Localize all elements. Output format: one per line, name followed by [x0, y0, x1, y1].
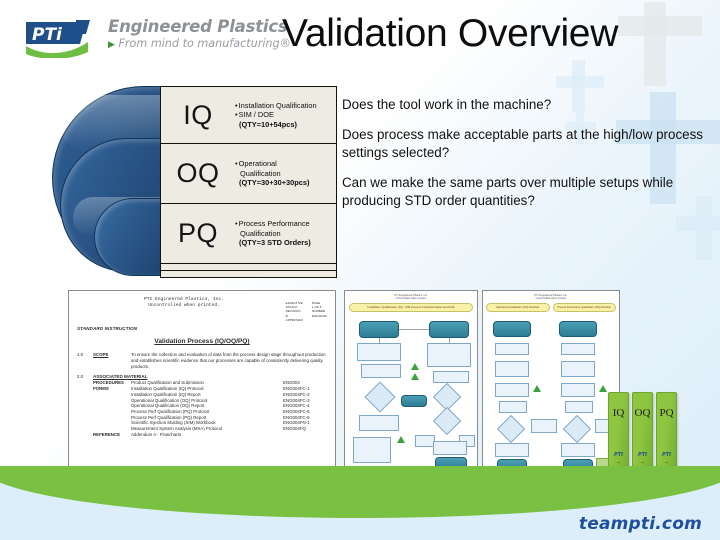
question-iq: Does the tool work in the machine?	[342, 96, 714, 113]
doc-uncontrolled: Uncontrolled when printed.	[109, 303, 259, 309]
doc-scope-row: 1.0 SCOPE To ensure the collection and e…	[77, 352, 327, 370]
footer-website: teampti.com	[579, 514, 702, 534]
doc-meta-revision-label: REVISION	[286, 309, 303, 313]
binder-dot-icon: •	[609, 398, 628, 402]
doc-scope-text: To ensure the collection and evaluation …	[131, 352, 327, 370]
stage-desc-oq: Operational Qualification (QTY=30+30+30p…	[235, 159, 336, 188]
flow-node-process	[561, 383, 595, 397]
flow-node-process	[561, 443, 595, 457]
binder-logo-oq: PTI	[633, 452, 652, 458]
binder-pq[interactable]: • PQ PTI ▬	[656, 392, 677, 468]
flow-node-process	[495, 361, 529, 377]
binder-code-oq: OQ	[633, 407, 652, 419]
flow-node-process	[357, 343, 401, 361]
stage-desc-pq: Process Performance Qualification (QTY=3…	[235, 219, 336, 248]
doc-meta-approved-label: APPROVED	[286, 318, 303, 322]
doc-assoc-label: ASSOCIATED MATERIAL	[93, 374, 327, 379]
svg-text:PTi: PTi	[32, 25, 63, 45]
doc-title: Validation Process (IQ/OQ/PQ)	[77, 338, 327, 345]
doc-meta-right: PAGE 1 OF 8 NUMBER ENG004IG	[312, 301, 327, 322]
doc-meta-left: EFFECTIVE 10/12/17 REVISION B APPROVED	[286, 301, 303, 322]
flow-node-decision	[563, 415, 591, 443]
pti-logo-mark: PTi	[24, 18, 100, 58]
binder-logo-pq: PTI	[657, 452, 676, 458]
document-thumbnails: PTI Engineered Plastics, Inc. Uncontroll…	[68, 290, 620, 478]
stage-bullet: Process Performance	[235, 219, 332, 229]
flow-node-start	[359, 321, 399, 338]
doc-meta-number-value: ENG004IG	[312, 314, 327, 318]
flow-node-warning-icon	[411, 373, 419, 380]
doc-item-name: Addendum A - Flowcharts	[131, 432, 283, 438]
binder-sub-iq: ▬	[609, 461, 628, 464]
doc-material-list: PROCEDURESProduct Qualification and Subm…	[93, 380, 327, 437]
doc-assoc-number: 2.0	[77, 374, 93, 380]
oq-flowchart-band: Operational Qualification (OQ) Flowchart	[486, 303, 550, 312]
binder-iq[interactable]: • IQ PTI ▬	[608, 392, 629, 468]
flow-node-process	[495, 343, 529, 355]
stage-box-oq: OQ Operational Qualification (QTY=30+30+…	[160, 144, 337, 204]
questions-list: Does the tool work in the machine? Does …	[342, 96, 714, 209]
footer-band: teampti.com	[0, 466, 720, 540]
stage-strip-2	[160, 271, 337, 278]
flow-connector	[399, 329, 429, 330]
slide-canvas: PTi Engineered Plastics ▶ From mind to m…	[0, 0, 720, 540]
oqpq-flowchart-canvas: PTI Engineered Plastics, Inc. Uncontroll…	[483, 291, 619, 475]
iq-flowchart-canvas: PTI Engineered Plastics, Inc. Uncontroll…	[345, 291, 477, 475]
flow-node-process	[361, 364, 401, 378]
flow-node-process	[415, 435, 435, 447]
page-title: Validation Overview	[282, 8, 682, 60]
stage-bullet-cont: Qualification	[235, 229, 332, 239]
thumbnail-oqpq-flowchart[interactable]: PTI Engineered Plastics, Inc. Uncontroll…	[482, 290, 620, 476]
binder-group: • IQ PTI ▬ • OQ PTI ▬ • PQ PTI ▬	[608, 392, 678, 468]
brand-line-1: Engineered Plastics	[108, 17, 260, 36]
question-pq: Can we make the same parts over multiple…	[342, 174, 714, 209]
binder-sub-pq: ▬	[657, 461, 676, 464]
flow-node-decision	[497, 415, 525, 443]
iq-flowchart-subheader: Uncontrolled when printed.	[345, 297, 477, 300]
doc-header-meta: EFFECTIVE 10/12/17 REVISION B APPROVED P…	[286, 301, 327, 322]
flow-node-legend	[353, 437, 391, 463]
brand-tagline: From mind to manufacturing	[118, 37, 279, 50]
flow-node-process	[427, 343, 471, 367]
flow-node-process	[433, 441, 467, 455]
flow-node-process	[359, 415, 399, 431]
flow-node-warning-icon	[533, 385, 541, 392]
pti-logo-wordmark: Engineered Plastics ▶ From mind to manuf…	[108, 17, 260, 52]
question-oq: Does process make acceptable parts at th…	[342, 126, 714, 161]
doc-scope-number: 1.0	[77, 352, 93, 370]
doc-item-code	[283, 432, 327, 438]
doc-header-center: PTI Engineered Plastics, Inc. Uncontroll…	[109, 297, 259, 309]
flow-node-start-pq	[559, 321, 597, 337]
brand-line-2: ▶ From mind to manufacturing®	[108, 37, 260, 52]
stage-box-column: IQ Installation Qualification SIM / DOE …	[160, 86, 337, 278]
stage-bullet: Installation Qualification	[235, 101, 332, 111]
oqpq-flowchart-header: PTI Engineered Plastics, Inc. Uncontroll…	[483, 291, 619, 301]
doc-header: PTI Engineered Plastics, Inc. Uncontroll…	[77, 297, 327, 322]
stage-qty-oq: (QTY=30+30+30pcs)	[235, 178, 332, 188]
stage-qty-iq: (QTY=10+54pcs)	[235, 120, 332, 130]
flow-node-warning-icon	[397, 436, 405, 443]
oqpq-flowchart-bands: Operational Qualification (OQ) Flowchart…	[486, 303, 616, 312]
flow-node-process	[561, 343, 595, 355]
flow-connector	[379, 338, 380, 343]
flow-node-decision	[364, 381, 395, 412]
validation-stages-diagram: IQ Installation Qualification SIM / DOE …	[52, 86, 337, 276]
thumbnail-iq-flowchart[interactable]: PTI Engineered Plastics, Inc. Uncontroll…	[344, 290, 478, 476]
pq-flowchart-band: Process Performance Qualification (PQ) F…	[553, 303, 617, 312]
flow-node-process	[433, 371, 469, 383]
iq-flowchart-header: PTI Engineered Plastics, Inc. Uncontroll…	[345, 291, 477, 301]
stage-qty-pq: (QTY=3 STD Orders)	[235, 238, 332, 248]
flow-node-start-oq	[493, 321, 531, 337]
doc-item-key: REFERENCE	[93, 432, 131, 438]
flow-node-process	[531, 419, 557, 433]
doc-standard-instruction: STANDARD INSTRUCTION	[77, 326, 327, 331]
flow-connector	[449, 338, 450, 343]
stage-bullet-cont: Qualification	[235, 169, 332, 179]
binder-dot-icon: •	[657, 398, 676, 402]
stage-box-pq: PQ Process Performance Qualification (QT…	[160, 204, 337, 264]
pti-logo: PTi Engineered Plastics ▶ From mind to m…	[24, 16, 260, 60]
flow-node-process	[495, 443, 529, 457]
stage-code-pq: PQ	[161, 218, 235, 249]
stage-desc-iq: Installation Qualification SIM / DOE (QT…	[235, 101, 336, 130]
flow-node-process	[565, 401, 593, 413]
stage-box-iq: IQ Installation Qualification SIM / DOE …	[160, 86, 337, 144]
flow-node-process	[561, 361, 595, 377]
stage-code-iq: IQ	[161, 100, 235, 131]
flow-node-process	[495, 383, 529, 397]
flow-node-process	[499, 401, 527, 413]
flow-node-branch	[429, 321, 469, 338]
binder-logo-iq: PTI	[609, 452, 628, 458]
binder-dot-icon: •	[633, 398, 652, 402]
stage-strip-1	[160, 264, 337, 271]
stage-bullet: SIM / DOE	[235, 110, 332, 120]
binder-code-pq: PQ	[657, 407, 676, 419]
list-item: REFERENCEAddendum A - Flowcharts	[93, 432, 327, 438]
binder-oq[interactable]: • OQ PTI ▬	[632, 392, 653, 468]
oqpq-flowchart-subheader: Uncontrolled when printed.	[483, 297, 619, 300]
flow-node-connector	[401, 395, 427, 407]
binder-sub-oq: ▬	[633, 461, 652, 464]
flow-node-warning-icon	[599, 385, 607, 392]
flow-node-warning-icon	[411, 363, 419, 370]
stage-bullet: Operational	[235, 159, 332, 169]
iq-flowchart-band: Installation Qualification (IQ) - SIM Pr…	[349, 303, 473, 312]
brand-triangle-icon: ▶	[108, 40, 115, 50]
thumbnail-standard-instruction[interactable]: PTI Engineered Plastics, Inc. Uncontroll…	[68, 290, 336, 476]
flow-node-decision	[433, 407, 461, 435]
stage-code-oq: OQ	[161, 158, 235, 189]
binder-code-iq: IQ	[609, 407, 628, 419]
doc-scope-label: SCOPE	[93, 352, 131, 370]
doc-meta-number-label: NUMBER	[312, 309, 327, 313]
